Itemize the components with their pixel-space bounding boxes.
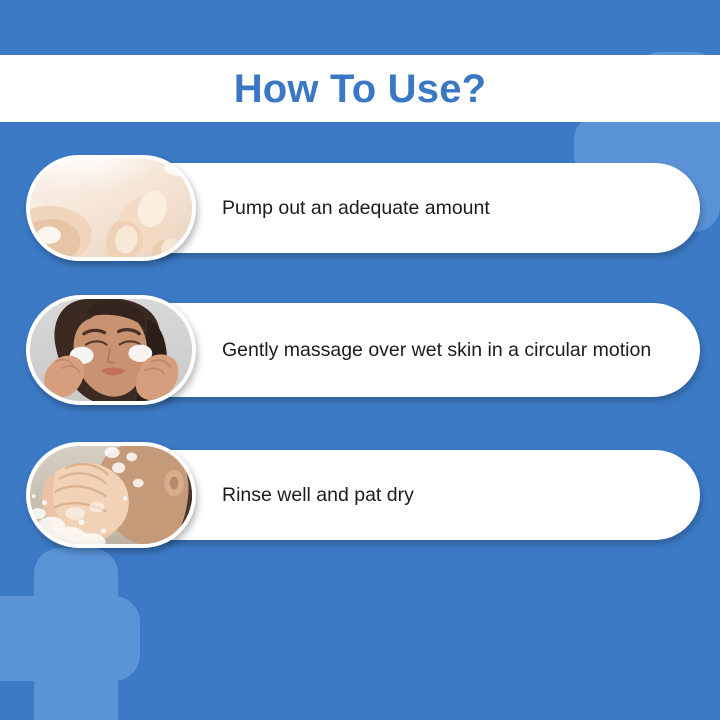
step-label: Rinse well and pat dry <box>222 482 414 508</box>
step-label: Gently massage over wet skin in a circul… <box>222 337 651 363</box>
step-row: Rinse well and pat dry <box>0 450 720 540</box>
how-to-use-poster: How To Use? Pump out an adequate amount <box>0 0 720 720</box>
steps-list: Pump out an adequate amount <box>0 163 720 590</box>
title-banner: How To Use? <box>0 55 720 122</box>
plus-horizontal-bar <box>0 596 140 681</box>
hand-with-product-thumbnail <box>26 155 196 261</box>
rinse-face-thumbnail <box>26 442 196 548</box>
step-row: Pump out an adequate amount <box>0 163 720 253</box>
face-massage-thumbnail <box>26 295 196 405</box>
page-title: How To Use? <box>234 69 487 109</box>
step-row: Gently massage over wet skin in a circul… <box>0 303 720 397</box>
step-label: Pump out an adequate amount <box>222 195 490 221</box>
